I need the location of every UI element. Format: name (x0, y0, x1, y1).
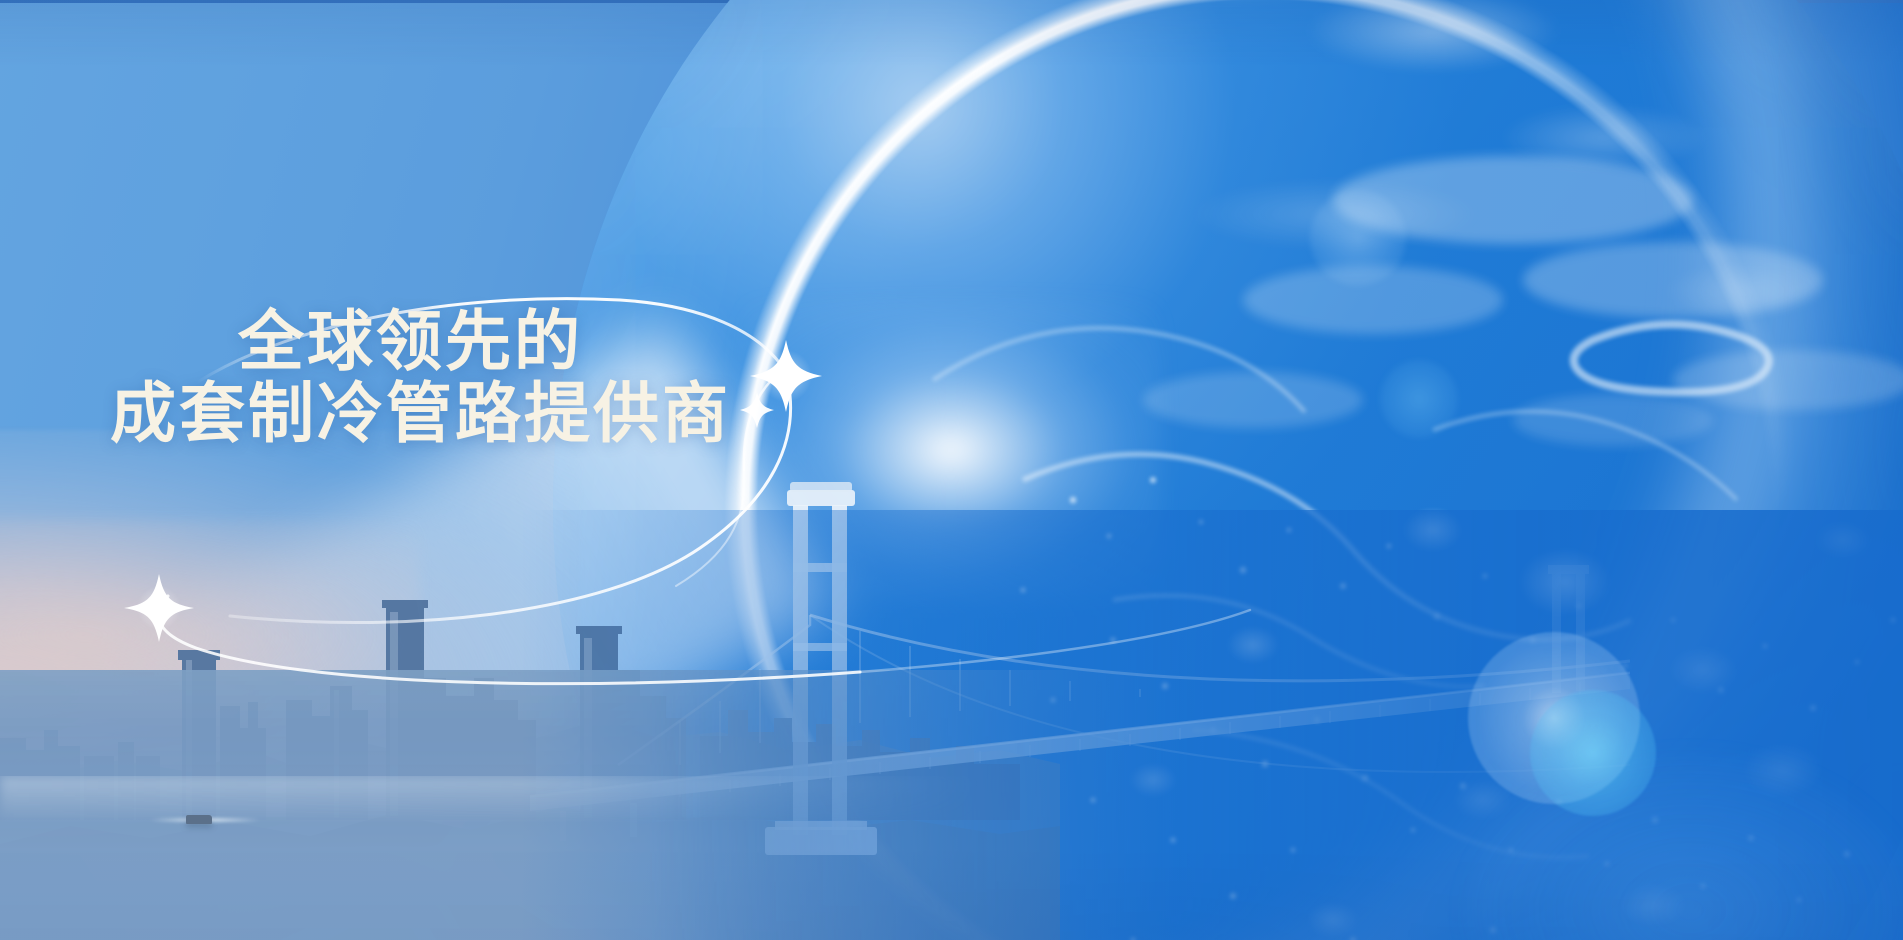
headline-line-2: 成套制冷管路提供商 (110, 377, 870, 449)
water-sheen (0, 776, 980, 822)
small-boat (186, 815, 212, 824)
hero-banner: 全球领先的 成套制冷管路提供商 (0, 0, 1903, 940)
headline-line-1: 全球领先的 (238, 305, 870, 377)
hero-headline: 全球领先的 成套制冷管路提供商 (110, 305, 870, 449)
